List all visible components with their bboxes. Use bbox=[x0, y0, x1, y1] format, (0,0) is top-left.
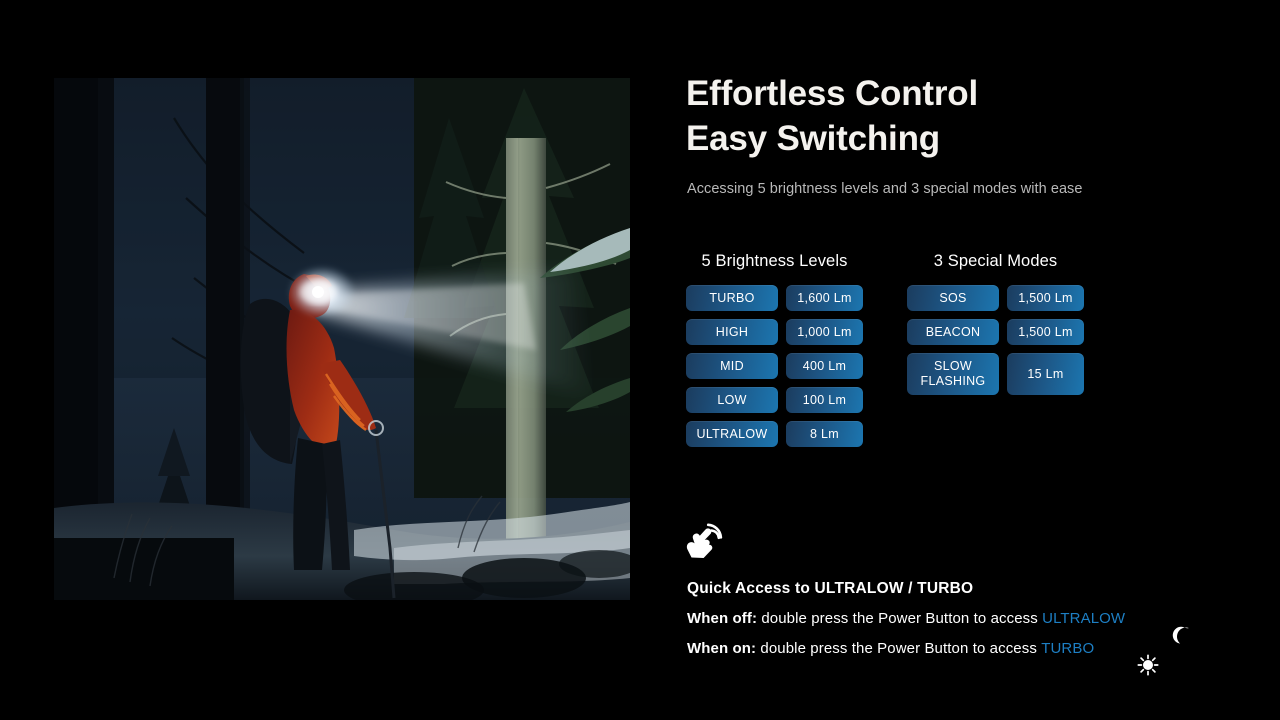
night-forest-hiker-photo bbox=[54, 78, 630, 600]
table-row: TURBO 1,600 Lm bbox=[686, 285, 863, 311]
photo-illustration bbox=[54, 78, 630, 600]
special-modes-table: 3 Special Modes SOS 1,500 Lm BEACON 1,50… bbox=[907, 252, 1084, 447]
mode-name-mid[interactable]: MID bbox=[686, 353, 778, 379]
brightness-rows: TURBO 1,600 Lm HIGH 1,000 Lm MID 400 Lm … bbox=[686, 285, 863, 447]
table-row: MID 400 Lm bbox=[686, 353, 863, 379]
instruction-when-off: When off: double press the Power Button … bbox=[687, 607, 1247, 629]
brightness-levels-header: 5 Brightness Levels bbox=[686, 252, 863, 271]
tap-hand-glyph bbox=[683, 516, 729, 562]
table-row: SOS 1,500 Lm bbox=[907, 285, 1084, 311]
mode-tables: 5 Brightness Levels TURBO 1,600 Lm HIGH … bbox=[686, 252, 1084, 447]
moon-icon bbox=[1134, 607, 1156, 629]
page-subtitle: Accessing 5 brightness levels and 3 spec… bbox=[687, 181, 1082, 197]
mode-value-low[interactable]: 100 Lm bbox=[786, 387, 863, 413]
moon-glyph bbox=[1168, 624, 1190, 646]
when-off-label: When off: bbox=[687, 610, 757, 627]
brightness-levels-table: 5 Brightness Levels TURBO 1,600 Lm HIGH … bbox=[686, 252, 863, 447]
tap-hand-icon bbox=[683, 516, 729, 562]
quick-access-title: Quick Access to ULTRALOW / TURBO bbox=[687, 580, 1247, 598]
mode-name-beacon[interactable]: BEACON bbox=[907, 319, 999, 345]
when-on-label: When on: bbox=[687, 640, 756, 657]
mode-value-beacon[interactable]: 1,500 Lm bbox=[1007, 319, 1084, 345]
table-row: BEACON 1,500 Lm bbox=[907, 319, 1084, 345]
mode-value-mid[interactable]: 400 Lm bbox=[786, 353, 863, 379]
table-row: HIGH 1,000 Lm bbox=[686, 319, 863, 345]
quick-access-instructions: Quick Access to ULTRALOW / TURBO When of… bbox=[687, 580, 1247, 667]
content-panel: Effortless Control Easy Switching Access… bbox=[686, 0, 1280, 720]
mode-value-turbo[interactable]: 1,600 Lm bbox=[786, 285, 863, 311]
mode-name-ultralow[interactable]: ULTRALOW bbox=[686, 421, 778, 447]
special-rows: SOS 1,500 Lm BEACON 1,500 Lm SLOW FLASHI… bbox=[907, 285, 1084, 395]
when-off-accent: ULTRALOW bbox=[1042, 610, 1125, 627]
sun-glyph bbox=[1137, 654, 1159, 676]
page-title: Effortless Control Easy Switching bbox=[686, 72, 978, 162]
mode-name-slow-flashing[interactable]: SLOW FLASHING bbox=[907, 353, 999, 395]
mode-name-high[interactable]: HIGH bbox=[686, 319, 778, 345]
table-row: SLOW FLASHING 15 Lm bbox=[907, 353, 1084, 395]
table-row: ULTRALOW 8 Lm bbox=[686, 421, 863, 447]
mode-value-sos[interactable]: 1,500 Lm bbox=[1007, 285, 1084, 311]
special-modes-header: 3 Special Modes bbox=[907, 252, 1084, 271]
when-on-text: double press the Power Button to access bbox=[756, 640, 1041, 657]
mode-name-turbo[interactable]: TURBO bbox=[686, 285, 778, 311]
sun-icon bbox=[1103, 637, 1125, 659]
mode-value-high[interactable]: 1,000 Lm bbox=[786, 319, 863, 345]
mode-value-slow-flashing[interactable]: 15 Lm bbox=[1007, 353, 1084, 395]
mode-name-sos[interactable]: SOS bbox=[907, 285, 999, 311]
table-row: LOW 100 Lm bbox=[686, 387, 863, 413]
mode-value-ultralow[interactable]: 8 Lm bbox=[786, 421, 863, 447]
when-off-text: double press the Power Button to access bbox=[757, 610, 1042, 627]
mode-name-low[interactable]: LOW bbox=[686, 387, 778, 413]
when-on-accent: TURBO bbox=[1041, 640, 1094, 657]
